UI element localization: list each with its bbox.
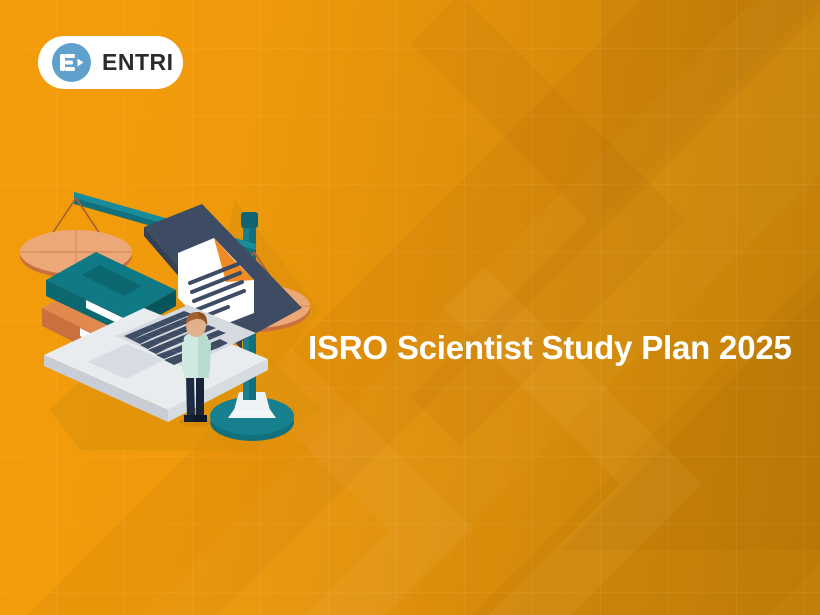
corner-triangle-top-right [600,0,820,220]
entri-logo[interactable]: ENTRI [38,36,183,89]
banner-root: ENTRI ISRO Scientist Study Plan 2025 [0,0,820,615]
corner-triangle-bottom-right [560,250,820,550]
study-plan-illustration [20,160,360,450]
page-title: ISRO Scientist Study Plan 2025 [308,328,792,368]
brand-name: ENTRI [102,51,174,74]
entri-e-play-icon [52,43,91,82]
